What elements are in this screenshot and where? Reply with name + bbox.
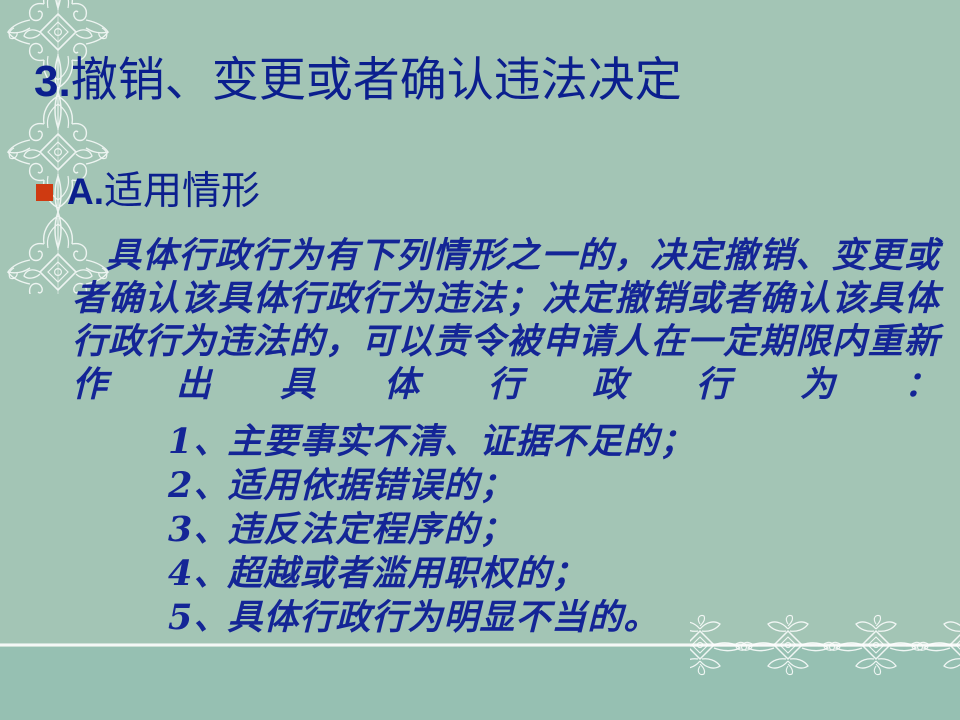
square-bullet-icon <box>36 184 53 201</box>
list-item-number: 1 <box>168 420 193 464</box>
heading-text-group: A.适用情形 <box>67 170 260 214</box>
list-item-separator: 、 <box>193 552 227 596</box>
list-item: 2、适用依据错误的； <box>168 464 868 508</box>
list-item: 3、违反法定程序的； <box>168 508 868 552</box>
title-text: 撤销、变更或者确认违法决定 <box>71 53 682 108</box>
list-item-label: 违反法定程序的； <box>227 509 515 550</box>
list-item-label: 具体行政行为明显不当的。 <box>227 597 659 638</box>
list-item-number: 2 <box>168 464 193 508</box>
list-item-separator: 、 <box>193 420 227 464</box>
slide-canvas: 3.撤销、变更或者确认违法决定 A.适用情形 具体行政行为有下列情形之一的，决定… <box>0 0 960 720</box>
body-block: 具体行政行为有下列情形之一的，决定撤销、变更或者确认该具体行政行为违法；决定撤销… <box>72 234 940 406</box>
numbered-list: 1、主要事实不清、证据不足的； 2、适用依据错误的； 3、违反法定程序的； 4、… <box>168 420 868 640</box>
title-number: 3. <box>34 57 71 106</box>
list-item-separator: 、 <box>193 464 227 508</box>
list-item-separator: 、 <box>193 596 227 640</box>
list-item-number: 4 <box>168 552 193 596</box>
page-title: 3.撤销、变更或者确认违法决定 <box>34 52 682 110</box>
list-item-number: 3 <box>168 508 193 552</box>
heading-label: 适用情形 <box>104 169 260 214</box>
list-item: 4、超越或者滥用职权的； <box>168 552 868 596</box>
list-item-label: 适用依据错误的； <box>227 465 515 506</box>
list-item-number: 5 <box>168 596 193 640</box>
list-item-label: 主要事实不清、证据不足的； <box>227 421 695 462</box>
list-item: 1、主要事实不清、证据不足的； <box>168 420 868 464</box>
heading-letter: A. <box>67 171 104 212</box>
horizontal-rule <box>0 643 960 647</box>
list-item-separator: 、 <box>193 508 227 552</box>
heading-row: A.适用情形 <box>36 170 260 214</box>
list-item-label: 超越或者滥用职权的； <box>227 553 587 594</box>
list-item: 5、具体行政行为明显不当的。 <box>168 596 868 640</box>
body-paragraph: 具体行政行为有下列情形之一的，决定撤销、变更或者确认该具体行政行为违法；决定撤销… <box>72 234 940 406</box>
slide-background-footer <box>0 647 960 720</box>
